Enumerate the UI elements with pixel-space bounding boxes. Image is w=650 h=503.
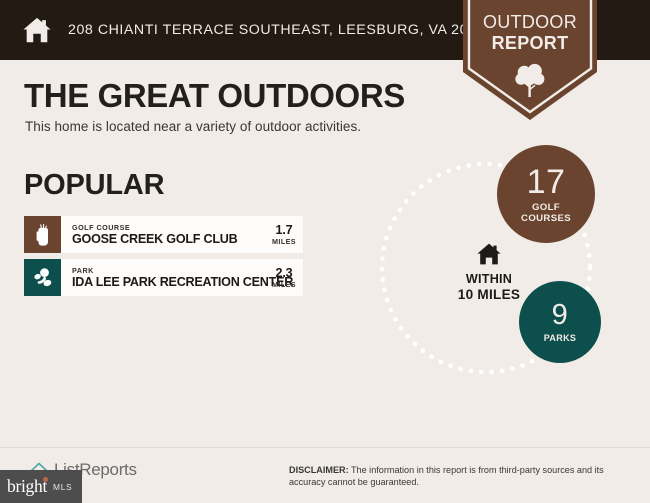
popular-heading: POPULAR: [24, 169, 164, 202]
bright-accent-dot: [43, 477, 48, 482]
home-icon: [22, 15, 52, 45]
tree-icon: [513, 62, 547, 98]
stat-parks: 9 PARKS: [519, 281, 601, 363]
outdoor-infographic: WITHIN 10 MILES 17 GOLF COURSES 9 PARKS: [370, 140, 650, 410]
within-text: WITHIN: [430, 272, 548, 287]
stat-label: PARKS: [544, 333, 577, 344]
list-item-category: GOLF COURSE: [72, 223, 269, 232]
stat-golf-courses: 17 GOLF COURSES: [497, 145, 595, 243]
stat-label: GOLF COURSES: [521, 202, 571, 224]
distance-value: 1.7: [276, 224, 293, 237]
list-item-distance: 1.7 MILES: [269, 216, 303, 253]
bright-word-text: bright: [7, 476, 47, 496]
golf-bag-icon: [24, 216, 61, 253]
outdoor-report-page: 208 CHIANTI TERRACE SOUTHEAST, LEESBURG,…: [0, 0, 650, 503]
list-item-distance: 2.3 MILES: [269, 259, 303, 296]
badge-shield-shape: [463, 0, 597, 120]
outdoor-report-badge: OUTDOOR REPORT: [463, 0, 597, 120]
disclaimer-label: DISCLAIMER:: [289, 465, 349, 475]
disclaimer: DISCLAIMER: The information in this repo…: [289, 464, 621, 489]
footer-divider: [0, 447, 650, 448]
list-item-text: PARK IDA LEE PARK RECREATION CENTER: [61, 259, 269, 296]
distance-unit: MILES: [272, 280, 296, 289]
stat-label-line1: GOLF: [521, 202, 571, 213]
bright-wordmark: bright: [7, 476, 47, 497]
home-icon: [476, 242, 502, 266]
list-item-name: GOOSE CREEK GOLF CLUB: [72, 232, 269, 246]
bright-mls-logo: bright MLS: [0, 470, 82, 503]
page-subtitle: This home is located near a variety of o…: [25, 119, 361, 134]
distance-value: 2.3: [276, 267, 293, 280]
stat-value: 9: [552, 301, 569, 330]
park-icon: [24, 259, 61, 296]
list-item-category: PARK: [72, 266, 269, 275]
bright-mls-text: MLS: [53, 482, 72, 492]
stat-label-line1: PARKS: [544, 333, 577, 344]
list-item-text: GOLF COURSE GOOSE CREEK GOLF CLUB: [61, 216, 269, 253]
list-item-name: IDA LEE PARK RECREATION CENTER: [72, 275, 269, 289]
popular-list: GOLF COURSE GOOSE CREEK GOLF CLUB 1.7 MI…: [24, 216, 303, 302]
page-title: THE GREAT OUTDOORS: [24, 76, 405, 116]
distance-unit: MILES: [272, 237, 296, 246]
stat-value: 17: [527, 165, 566, 199]
list-item[interactable]: PARK IDA LEE PARK RECREATION CENTER 2.3 …: [24, 259, 303, 296]
stat-label-line2: COURSES: [521, 213, 571, 224]
list-item[interactable]: GOLF COURSE GOOSE CREEK GOLF CLUB 1.7 MI…: [24, 216, 303, 253]
property-address: 208 CHIANTI TERRACE SOUTHEAST, LEESBURG,…: [68, 22, 493, 38]
